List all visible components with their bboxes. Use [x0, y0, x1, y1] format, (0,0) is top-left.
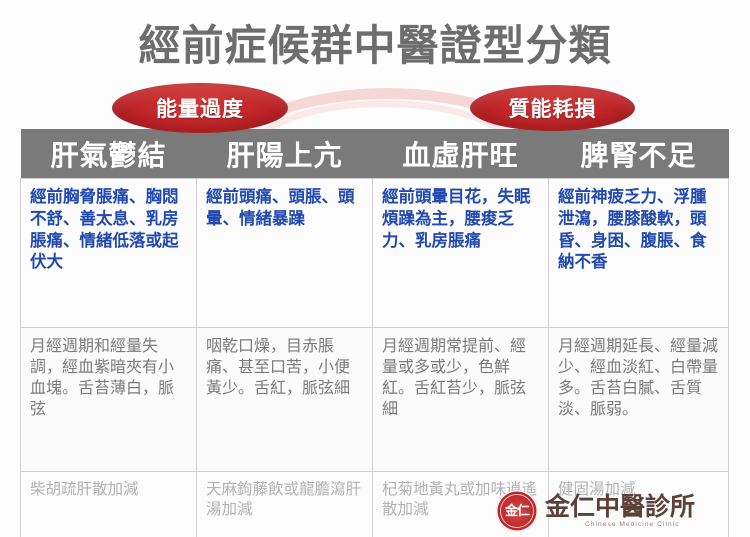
symptoms-cell-col3: 經前頭暈目花，失眠煩躁為主，腰痠乏力、乳房脹痛: [373, 179, 549, 328]
symptoms-cell-col2: 經前頭痛、頭脹、頭暈、情緒暴躁: [197, 179, 373, 328]
column-header-blood-deficiency-liver-excess: 血虛肝旺: [373, 129, 549, 179]
badge-substance-depletion: 質能耗損: [470, 85, 635, 131]
table-row: 月經週期和經量失調，經血紫暗夾有小血塊。舌苔薄白，脈弦 咽乾口燥，目赤脹痛、甚至…: [21, 328, 729, 472]
column-header-liver-yang-hyperactivity: 肝陽上亢: [197, 129, 373, 179]
menstruation-cell-col4: 月經週期延長、經量減少、經血淡紅、白帶量多。舌苔白膩、舌質淡、脈弱。: [549, 328, 729, 472]
symptoms-cell-col1: 經前胸脅脹痛、胸悶不舒、善太息、乳房脹痛、情緒低落或起伏大: [21, 179, 197, 328]
formula-cell-col1: 柴胡疏肝散加減: [21, 472, 197, 537]
column-header-spleen-kidney-deficiency: 脾腎不足: [549, 129, 729, 179]
classification-table-container: 肝氣鬱結 肝陽上亢 血虛肝旺 脾腎不足 經前胸脅脹痛、胸悶不舒、善太息、乳房脹痛…: [20, 129, 728, 537]
page-title: 經前症候群中醫證型分類: [138, 22, 611, 70]
formula-cell-col2: 天麻鉤藤飲或龍膽瀉肝湯加減: [197, 472, 373, 537]
slide-canvas: 經前症候群中醫證型分類 能量過度 質能耗損 肝氣鬱結 肝陽上亢 血虛肝旺 脾腎不…: [0, 0, 750, 537]
menstruation-cell-col3: 月經週期常提前、經量或多或少，色鮮紅。舌紅苔少，脈弦細: [373, 328, 549, 472]
clinic-logo: 金仁 金仁中醫診所 Chinese Medicine Clinic: [496, 487, 736, 535]
table-header: 肝氣鬱結 肝陽上亢 血虛肝旺 脾腎不足: [21, 129, 729, 179]
column-header-liver-qi-stagnation: 肝氣鬱結: [21, 129, 197, 179]
table-row: 經前胸脅脹痛、胸悶不舒、善太息、乳房脹痛、情緒低落或起伏大 經前頭痛、頭脹、頭暈…: [21, 179, 729, 328]
clinic-seal-icon: 金仁: [496, 490, 538, 532]
table-header-row: 肝氣鬱結 肝陽上亢 血虛肝旺 脾腎不足: [21, 129, 729, 179]
title-container: 經前症候群中醫證型分類: [0, 22, 750, 70]
badge-substance-depletion-label: 質能耗損: [509, 93, 597, 123]
menstruation-cell-col2: 咽乾口燥，目赤脹痛、甚至口苦，小便黃少。舌紅，脈弦細: [197, 328, 373, 472]
table-body: 經前胸脅脹痛、胸悶不舒、善太息、乳房脹痛、情緒低落或起伏大 經前頭痛、頭脹、頭暈…: [21, 179, 729, 537]
badge-energy-excess: 能量過度: [112, 83, 288, 133]
symptoms-cell-col4: 經前神疲乏力、浮腫泄瀉，腰膝酸軟，頭昏、身困、腹脹、食納不香: [549, 179, 729, 328]
clinic-logo-text: 金仁中醫診所 Chinese Medicine Clinic: [545, 494, 695, 529]
clinic-name-en: Chinese Medicine Clinic: [585, 521, 695, 528]
badge-energy-excess-label: 能量過度: [156, 93, 244, 123]
clinic-seal-text: 金仁: [505, 505, 529, 518]
classification-table: 肝氣鬱結 肝陽上亢 血虛肝旺 脾腎不足 經前胸脅脹痛、胸悶不舒、善太息、乳房脹痛…: [20, 129, 729, 537]
menstruation-cell-col1: 月經週期和經量失調，經血紫暗夾有小血塊。舌苔薄白，脈弦: [21, 328, 197, 472]
clinic-name-cn: 金仁中醫診所: [545, 494, 695, 520]
